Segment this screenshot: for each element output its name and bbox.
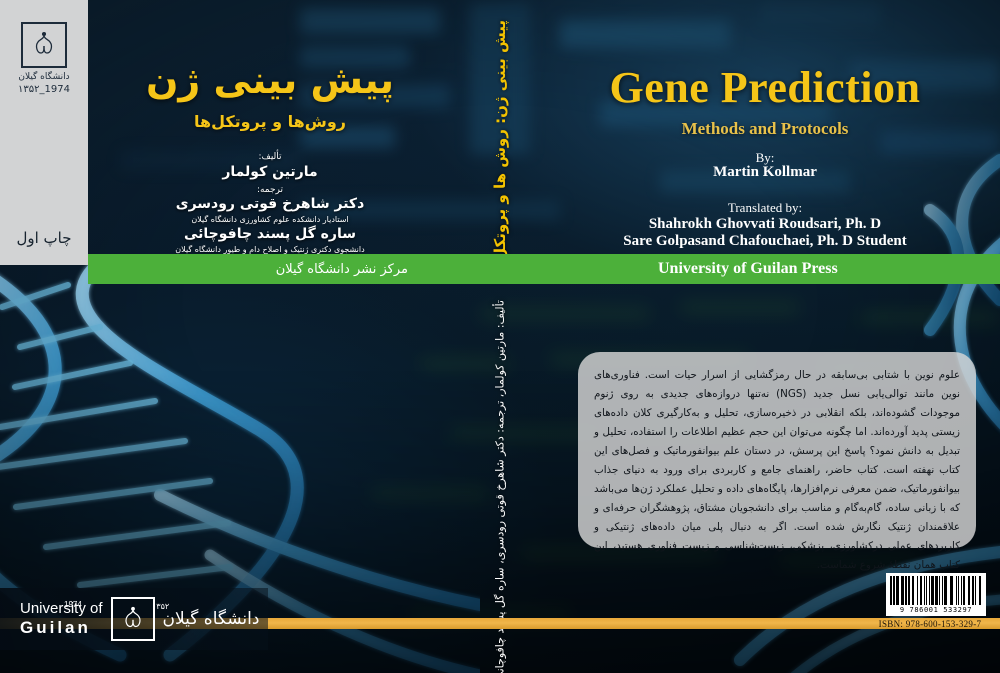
translator1-fa: دکتر شاهرخ قوتی رودسری: [88, 196, 452, 212]
english-front-panel: Gene Prediction Methods and Protocols By…: [530, 0, 1000, 254]
university-name-en-line1: University of: [20, 601, 103, 618]
title-fa: پیش بینی ژن: [88, 58, 452, 102]
title-en: Gene Prediction: [530, 62, 1000, 113]
subtitle-fa: روش‌ها و پروتکل‌ها: [88, 112, 452, 131]
back-cover-blurb-text: علوم نوین با شتابی بی‌سابقه در حال رمزگش…: [594, 366, 960, 576]
publisher-name-fa: مرکز نشر دانشگاه گیلان: [276, 254, 408, 284]
persian-front-panel: پیش بینی ژن روش‌ها و پروتکل‌ها تألیف: ما…: [88, 0, 470, 254]
book-spine: پیش بینی ژن: روش ها و پروتکل ها تألیف: م…: [470, 0, 530, 673]
translator2-en: Sare Golpasand Chafouchaei, Ph. D Studen…: [530, 233, 1000, 250]
guilan-emblem-glyph-bottom: [119, 605, 147, 633]
isbn-text: ISBN: 978-600-153-329-7: [860, 618, 1000, 629]
university-year-en: 1974: [64, 600, 82, 609]
translator2-fa: ساره گل پسند چافوچائی: [88, 226, 452, 242]
university-name-en: University of Guilan: [20, 601, 103, 637]
translator-label-fa: ترجمه:: [88, 185, 452, 195]
book-cover: دانشگاه گیلان ۱۳۵۲_1974 چاپ اول پیش بینی…: [0, 0, 1000, 673]
university-name-fa: دانشگاه گیلان: [163, 609, 260, 629]
university-name-en-line2: Guilan: [20, 618, 103, 637]
barcode: 9 786001 533297: [886, 573, 986, 616]
barcode-digits: 9 786001 533297: [890, 606, 982, 614]
author-label-fa: تألیف:: [88, 152, 452, 162]
guilan-emblem-icon-bottom: [111, 597, 155, 641]
guilan-emblem-glyph: [29, 30, 59, 60]
translator2-affiliation-fa: دانشجوی دکتری ژنتیک و اصلاح دام و طیور د…: [88, 245, 452, 254]
translator1-affiliation-fa: استادیار دانشکده علوم کشاورزی دانشگاه گی…: [88, 215, 452, 224]
publisher-band: مرکز نشر دانشگاه گیلان University of Gui…: [88, 254, 1000, 284]
translator1-en: Shahrokh Ghovvati Roudsari, Ph. D: [530, 216, 1000, 233]
university-logo-band: University of Guilan 1974 ۱۳۵۲ دانشگاه گ…: [0, 588, 268, 650]
author-fa: مارتین کولمار: [88, 164, 452, 180]
university-year-fa: ۱۳۵۲: [152, 602, 169, 611]
guilan-emblem-icon: [21, 22, 67, 68]
flap-university-name-fa: دانشگاه گیلان: [12, 72, 76, 82]
translated-label-en: Translated by:: [530, 200, 1000, 216]
flap-university-logo: دانشگاه گیلان ۱۳۵۲_1974: [12, 22, 76, 95]
flap-university-year: ۱۳۵۲_1974: [12, 84, 76, 95]
author-en: Martin Kollmar: [530, 164, 1000, 181]
back-cover-blurb-panel: علوم نوین با شتابی بی‌سابقه در حال رمزگش…: [578, 352, 976, 548]
spine-title: پیش بینی ژن: روش ها و پروتکل ها: [491, 20, 509, 282]
edition-badge: چاپ اول: [0, 210, 88, 265]
subtitle-en: Methods and Protocols: [530, 119, 1000, 139]
publisher-name-en: University of Guilan Press: [658, 254, 838, 284]
barcode-bars: [890, 576, 982, 605]
